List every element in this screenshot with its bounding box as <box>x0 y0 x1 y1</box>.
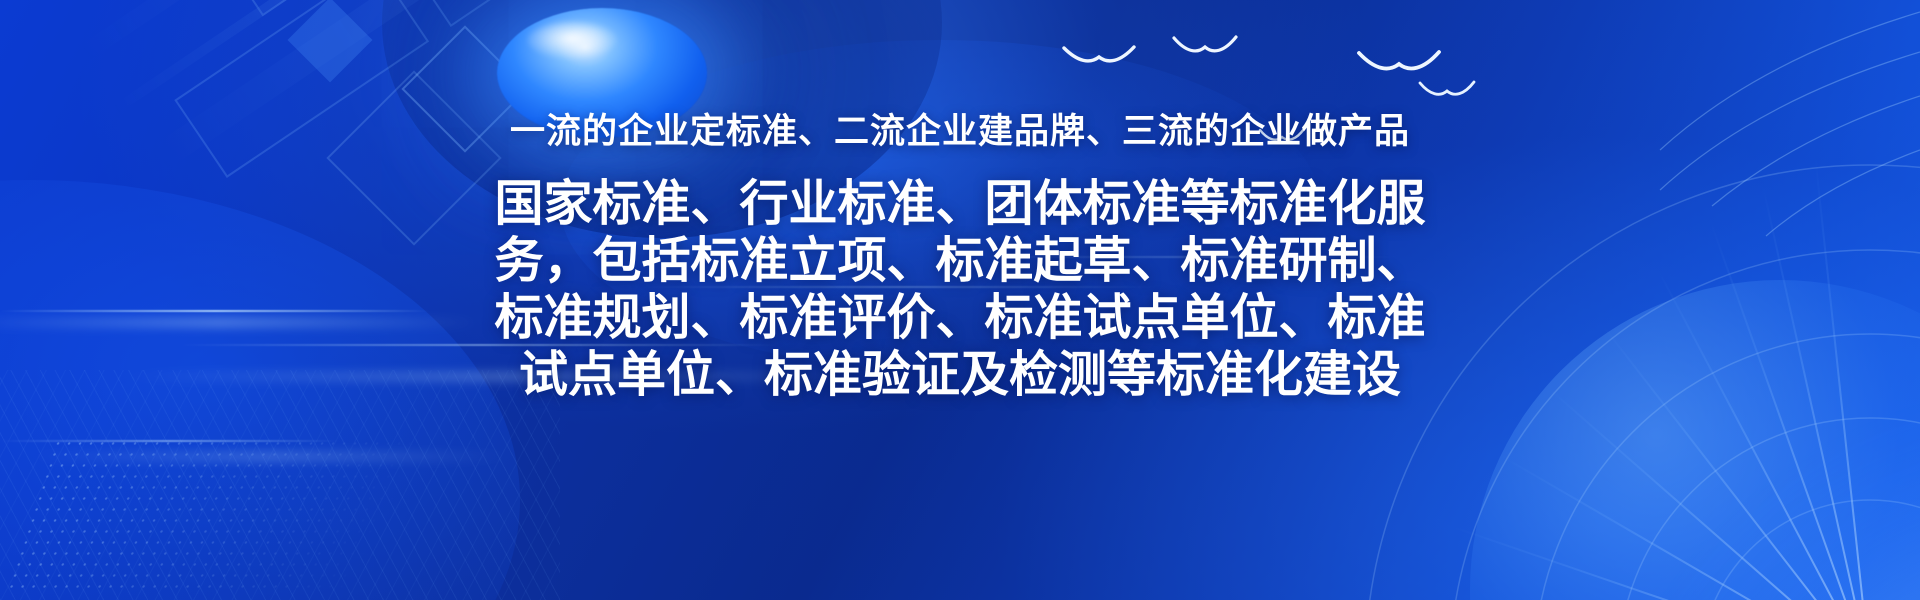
banner-content: 一流的企业定标准、二流企业建品牌、三流的企业做产品 国家标准、行业标准、团体标准… <box>0 0 1920 404</box>
mesh-pattern-icon <box>0 370 560 600</box>
banner-body-line: 标准规划、标准评价、标准试点单位、标准 <box>420 290 1500 347</box>
banner-hero: 一流的企业定标准、二流企业建品牌、三流的企业做产品 国家标准、行业标准、团体标准… <box>0 0 1920 600</box>
light-streak-icon <box>30 452 510 461</box>
dot-matrix-icon <box>6 438 485 588</box>
banner-body-copy: 国家标准、行业标准、团体标准等标准化服 务，包括标准立项、标准起草、标准研制、 … <box>420 152 1500 404</box>
banner-headline: 一流的企业定标准、二流企业建品牌、三流的企业做产品 <box>0 0 1920 152</box>
light-streak-icon <box>0 440 340 442</box>
banner-body-line: 国家标准、行业标准、团体标准等标准化服 <box>420 176 1500 233</box>
banner-body-line: 务，包括标准立项、标准起草、标准研制、 <box>420 233 1500 290</box>
banner-body-line: 试点单位、标准验证及检测等标准化建设 <box>420 347 1500 404</box>
